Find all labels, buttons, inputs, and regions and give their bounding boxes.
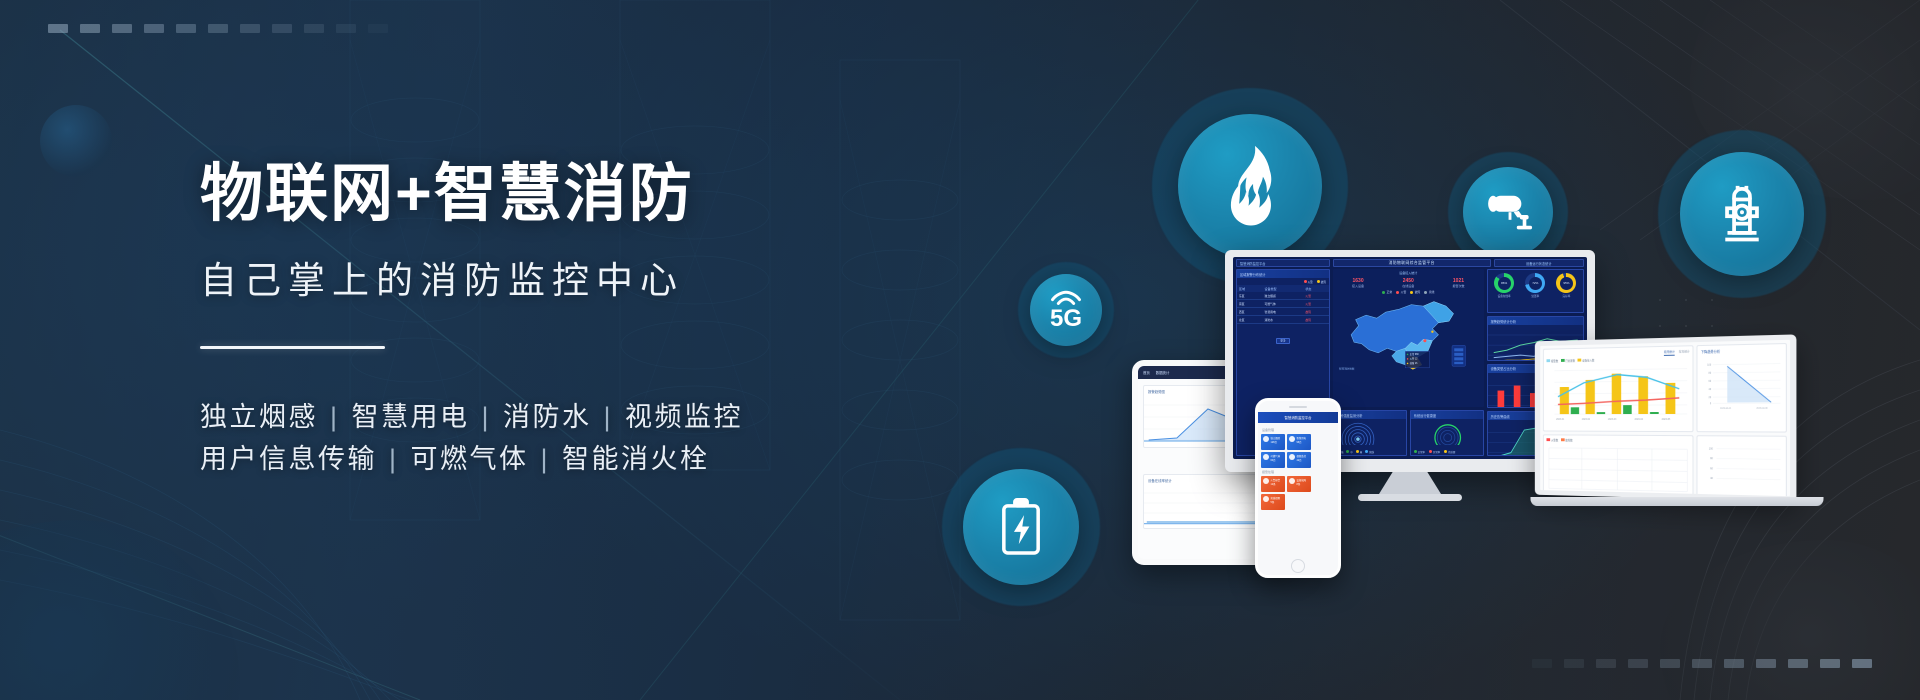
dash (304, 24, 324, 33)
gauge-label: 完好率 (1556, 294, 1576, 298)
svg-text:2023-01: 2023-01 (1556, 418, 1565, 420)
laptop-tab-0[interactable]: 按月统计 (1664, 350, 1675, 356)
alarm-more-button[interactable]: 更多 (1276, 338, 1289, 344)
tile-sub: 96台 (1297, 441, 1302, 444)
alarm-table: 区域设备类型状态 东区独立烟感火警南区可燃气体火警西区智慧用电故障北区消防水故障 (1237, 285, 1329, 324)
panel-title: 报警趋势统计分析 (1488, 317, 1583, 325)
tile-label: 独立烟感 (1271, 437, 1281, 440)
device-mockup-cluster: 首页 数据统计 报警趋势图 (1120, 280, 1880, 580)
dash (240, 24, 260, 33)
tile-icon (1289, 436, 1295, 442)
gauge-value: 95% (1560, 277, 1573, 290)
phone-home-button[interactable] (1291, 559, 1305, 573)
dash (144, 24, 164, 33)
laptop-screen: 按月统计 按年统计 报警数已处置数设备接入数 (1540, 340, 1790, 496)
dash (1724, 659, 1744, 668)
gauge-ring: 86% (1494, 273, 1514, 293)
feature-item[interactable]: 智能消火栓 (562, 444, 710, 474)
hero-copy: 物联网+智慧消防 自己掌上的消防监控中心 独立烟感|智慧用电|消防水|视频监控用… (200, 160, 960, 481)
kpi-0: 1630接入设备 (1352, 278, 1364, 288)
dash (1628, 659, 1648, 668)
china-map: 正常 980 火警 12 故障 26 (1333, 295, 1484, 379)
phone-speaker (1258, 401, 1338, 412)
decorative-circle-top-left (40, 105, 112, 177)
tile-label: 设备故障 (1297, 479, 1307, 482)
feature-separator: | (529, 444, 563, 474)
monitor-stand (1379, 472, 1441, 494)
svg-text:20: 20 (1709, 397, 1712, 399)
decorative-dash-row-bottom (1532, 659, 1872, 668)
dashboard-col-center: 设备接入统计 1630接入设备2450在线设备1021报警次数 正常火警故障离线 (1333, 269, 1484, 456)
cctv-camera-icon (1483, 191, 1533, 233)
feature-row-0: 独立烟感|智慧用电|消防水|视频监控 (200, 397, 960, 439)
svg-text:100: 100 (1708, 365, 1713, 367)
table-row[interactable]: 北区消防水故障 (1237, 316, 1329, 324)
kpi-label: 报警次数 (1452, 284, 1464, 288)
dash (1820, 659, 1840, 668)
kpi-row: 1630接入设备2450在线设备1021报警次数 (1333, 275, 1484, 289)
table-cell: 西区 (1237, 308, 1263, 316)
phone-body: 设备管理 独立烟感128台智慧用电96台可燃气体64台视频监控42台 报警处理 … (1258, 423, 1338, 513)
dashboard-header-card-2: 设备运行状态统计 (1494, 259, 1584, 267)
laptop-bar-chart-card: 按月统计 按年统计 报警数已处置数设备接入数 (1543, 345, 1694, 431)
svg-text:80: 80 (1711, 457, 1714, 460)
tile-label: 智慧用电 (1297, 437, 1307, 440)
tile-sub: 42台 (1297, 459, 1302, 462)
dash (176, 24, 196, 33)
dashboard-header-row: 智慧消防监控平台 消防物联网综合监管平台 设备运行状态统计 (1233, 257, 1587, 267)
phone-tile[interactable]: 设备故障8条 (1287, 476, 1311, 492)
feature-item[interactable]: 视频监控 (625, 402, 743, 432)
tile-label: 可燃气体 (1271, 455, 1281, 458)
panel-title: 信号强度监测分析 (1334, 411, 1406, 419)
dashboard-header-title-0: 智慧消防监控平台 (1240, 261, 1266, 266)
kpi-1: 2450在线设备 (1402, 278, 1414, 288)
decorative-blob-bottom-left (0, 520, 240, 700)
gauge-label: 设备在线率 (1494, 294, 1514, 298)
tile-icon (1289, 454, 1295, 460)
table-cell: 故障 (1303, 316, 1329, 324)
legend-item-1: 已处置数 (1561, 358, 1575, 362)
dash (48, 24, 68, 33)
tile-label: 火警报警 (1271, 479, 1281, 482)
gauge-row: 86%设备在线率72%处置率95%完好率 (1488, 270, 1583, 301)
gauge-value: 72% (1529, 277, 1542, 290)
gauge-ring: 95% (1556, 273, 1576, 293)
phone-tile[interactable]: 视频监控42台 (1287, 452, 1311, 468)
feature-item[interactable]: 独立烟感 (200, 402, 318, 432)
laptop-chart-row-1: 火警数故障数 (1543, 434, 1787, 496)
svg-text:0: 0 (1710, 403, 1712, 405)
gauge-value: 86% (1498, 277, 1511, 290)
table-row[interactable]: 西区智慧用电故障 (1237, 308, 1329, 316)
phone-tile[interactable]: 独立烟感128台 (1261, 434, 1285, 450)
dash (1564, 659, 1584, 668)
svg-text:2023-03: 2023-03 (1608, 418, 1617, 420)
flame-icon (1213, 145, 1287, 227)
phone-tile[interactable]: 智慧用电96台 (1287, 434, 1311, 450)
svg-text:80: 80 (1709, 373, 1712, 375)
feature-item[interactable]: 可燃气体 (411, 444, 529, 474)
hero-banner: 物联网+智慧消防 自己掌上的消防监控中心 独立烟感|智慧用电|消防水|视频监控用… (0, 0, 1920, 700)
laptop-tab-1[interactable]: 按年统计 (1679, 349, 1690, 355)
phone-mockup[interactable]: 智慧消防监控平台 设备管理 独立烟感128台智慧用电96台可燃气体64台视频监控… (1255, 398, 1341, 578)
legend-item-0: 报警数 (1547, 359, 1559, 363)
table-cell: 智慧用电 (1263, 308, 1304, 316)
bubble-battery[interactable] (942, 448, 1100, 606)
table-cell: 独立烟感 (1263, 292, 1304, 300)
dashboard-health-panel: 系统运行健康度 正常率 异常率 (1410, 410, 1484, 456)
dash (1532, 659, 1552, 668)
alarm-table-col: 设备类型 (1263, 285, 1304, 292)
table-cell: 可燃气体 (1263, 300, 1304, 308)
tile-sub: 64台 (1271, 459, 1276, 462)
dash (112, 24, 132, 33)
svg-text:2023-04-30: 2023-04-30 (1757, 408, 1769, 410)
5g-signal-icon (1049, 289, 1083, 306)
panel-title: 区域报警分布统计 (1237, 270, 1329, 278)
table-cell: 火警 (1303, 292, 1329, 300)
feature-item[interactable]: 用户信息传输 (200, 444, 377, 474)
feature-separator: | (318, 402, 352, 432)
phone-app-title: 智慧消防监控平台 (1258, 412, 1338, 423)
laptop-base (1531, 497, 1824, 506)
laptop-table-card: 火警数故障数 (1543, 434, 1694, 496)
alarm-table-body: 东区独立烟感火警南区可燃气体火警西区智慧用电故障北区消防水故障 (1237, 292, 1329, 324)
page-subtitle: 自己掌上的消防监控中心 (200, 250, 960, 304)
tile-sub: 128台 (1271, 441, 1277, 444)
tile-icon (1263, 496, 1269, 502)
legend-item-1: 故障数 (1561, 438, 1573, 442)
alarm-table-col: 区域 (1237, 285, 1263, 292)
feature-item[interactable]: 消防水 (503, 402, 592, 432)
table-cell: 火警 (1303, 300, 1329, 308)
panel-title: 系统运行健康度 (1411, 411, 1483, 419)
laptop-chart-title-1: 下降趋势分析 (1701, 347, 1783, 354)
monitor-base (1358, 494, 1462, 501)
kpi-label: 在线设备 (1402, 284, 1414, 288)
map-legend-item-0: 正常 (1382, 290, 1392, 294)
svg-text:智慧消防地图: 智慧消防地图 (1339, 366, 1355, 370)
dash (80, 24, 100, 33)
kpi-label: 接入设备 (1352, 284, 1364, 288)
svg-text:2023-04: 2023-04 (1635, 418, 1644, 420)
table-row[interactable]: 东区独立烟感火警 (1237, 292, 1329, 300)
dashboard-map-panel: 设备接入统计 1630接入设备2450在线设备1021报警次数 正常火警故障离线 (1333, 269, 1484, 407)
table-row[interactable]: 南区可燃气体火警 (1237, 300, 1329, 308)
tile-sub: 8条 (1297, 483, 1301, 486)
gauge-0: 86%设备在线率 (1494, 273, 1514, 298)
table-cell: 故障 (1303, 308, 1329, 316)
bubble-hydrant[interactable] (1658, 130, 1826, 298)
divider (200, 346, 385, 349)
feature-separator: | (592, 402, 626, 432)
svg-text:60: 60 (1711, 467, 1714, 470)
laptop-lid: 按月统计 按年统计 报警数已处置数设备接入数 (1535, 334, 1797, 501)
dashboard-header-title-2: 设备运行状态统计 (1526, 261, 1552, 266)
feature-row-1: 用户信息传输|可燃气体|智能消火栓 (200, 439, 960, 481)
5g-label: 5G (1050, 307, 1082, 331)
dash (1788, 659, 1808, 668)
laptop-area-chart-card: 下降趋势分析 1008060 (1697, 343, 1787, 432)
laptop-mockup[interactable]: 按月统计 按年统计 报警数已处置数设备接入数 (1520, 338, 1820, 538)
legend-item-2: 设备接入数 (1578, 358, 1595, 362)
gauge-1: 72%处置率 (1525, 273, 1545, 298)
phone-tile[interactable]: 离线提醒5条 (1261, 494, 1285, 510)
table-cell: 北区 (1237, 316, 1263, 324)
phone-section-1: 报警处理 (1262, 470, 1335, 474)
bubble-5g[interactable]: 5G (1018, 262, 1114, 358)
phone-tile[interactable]: 可燃气体64台 (1261, 452, 1285, 468)
dashboard-center-bottom: 信号强度监测分析 (1333, 410, 1484, 456)
svg-text:100: 100 (1709, 447, 1714, 450)
tablet-nav-item-0[interactable]: 首页 (1143, 370, 1150, 375)
alarm-table-header: 区域设备类型状态 (1237, 285, 1329, 292)
dashboard-signal-panel: 信号强度监测分析 (1333, 410, 1407, 456)
dash (368, 24, 388, 33)
feature-item[interactable]: 智慧用电 (352, 402, 470, 432)
phone-section-0: 设备管理 (1262, 428, 1335, 432)
dash (272, 24, 292, 33)
laptop-axis-card: 10080 6040 (1697, 435, 1787, 497)
table-cell: 东区 (1237, 292, 1263, 300)
svg-text:2023-02: 2023-02 (1582, 418, 1591, 420)
tile-sub: 5条 (1271, 501, 1275, 504)
svg-text:2023-04-01: 2023-04-01 (1720, 408, 1732, 410)
tile-icon (1263, 436, 1269, 442)
alarm-table-col: 状态 (1303, 285, 1329, 292)
map-legend-item-2: 故障 (1410, 290, 1420, 294)
dash (208, 24, 228, 33)
decorative-dash-row-top (48, 24, 388, 33)
dash (1692, 659, 1712, 668)
gauge-label: 处置率 (1525, 294, 1545, 298)
map-legend-item-3: 离线 (1424, 290, 1434, 294)
phone-tile[interactable]: 火警报警12条 (1261, 476, 1285, 492)
tile-icon (1289, 478, 1295, 484)
page-title: 物联网+智慧消防 (200, 160, 960, 228)
dashboard-header-card-0: 智慧消防监控平台 (1236, 259, 1330, 267)
dashboard-header-title-1: 消防物联网综合监管平台 (1389, 261, 1435, 266)
feature-list: 独立烟感|智慧用电|消防水|视频监控用户信息传输|可燃气体|智能消火栓 (200, 397, 960, 481)
table-cell: 南区 (1237, 300, 1263, 308)
feature-separator: | (470, 402, 504, 432)
dash (1852, 659, 1872, 668)
svg-text:40: 40 (1711, 477, 1714, 480)
tablet-nav-item-1[interactable]: 数据统计 (1156, 370, 1170, 375)
tile-icon (1263, 478, 1269, 484)
phone-tile-grid-blue: 独立烟感128台智慧用电96台可燃气体64台视频监控42台 (1261, 434, 1335, 468)
tile-icon (1263, 454, 1269, 460)
battery-charge-icon (999, 496, 1043, 558)
tile-label: 离线提醒 (1271, 497, 1281, 500)
map-legend-item-1: 火警 (1396, 290, 1406, 294)
dashboard-gauges-panel: 86%设备在线率72%处置率95%完好率 (1487, 269, 1584, 313)
phone-tile-grid-orange: 火警报警12条设备故障8条离线提醒5条 (1261, 476, 1335, 510)
dashboard-header-card-1: 消防物联网综合监管平台 (1333, 259, 1491, 267)
tile-sub: 12条 (1271, 483, 1276, 486)
gauge-ring: 72% (1525, 273, 1545, 293)
svg-text:2023-05: 2023-05 (1662, 418, 1671, 420)
gauge-2: 95%完好率 (1556, 273, 1576, 298)
laptop-table-legend: 火警数故障数 (1547, 438, 1690, 443)
legend-item-0: 火警数 (1547, 438, 1559, 442)
feature-separator: | (377, 444, 411, 474)
dash (1756, 659, 1776, 668)
dash (1596, 659, 1616, 668)
laptop-chart-row-0: 按月统计 按年统计 报警数已处置数设备接入数 (1543, 343, 1787, 432)
svg-text:60: 60 (1709, 381, 1712, 383)
kpi-2: 1021报警次数 (1452, 278, 1464, 288)
svg-text:40: 40 (1709, 389, 1712, 391)
tile-label: 视频监控 (1297, 455, 1307, 458)
fire-hydrant-icon (1712, 181, 1772, 247)
dash (1660, 659, 1680, 668)
table-cell: 消防水 (1263, 316, 1304, 324)
dash (336, 24, 356, 33)
